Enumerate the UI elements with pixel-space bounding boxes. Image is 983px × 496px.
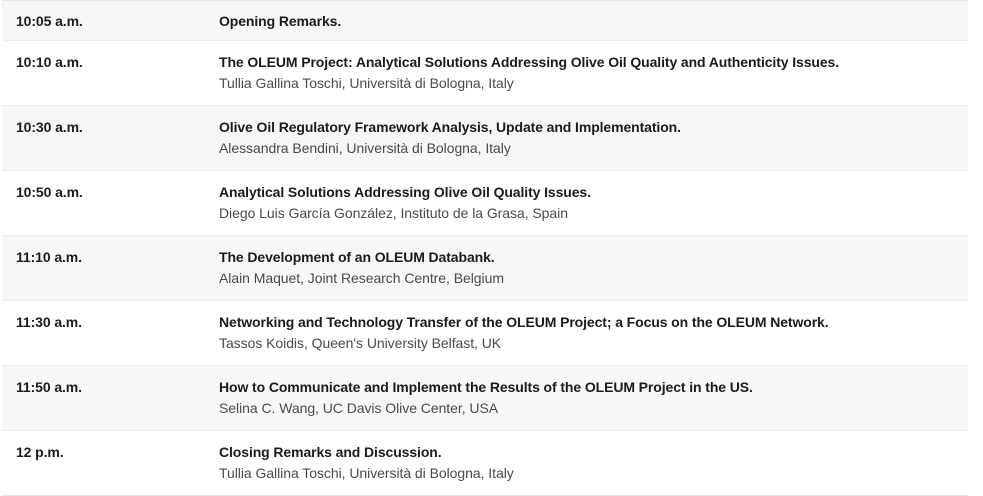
row-time: 10:05 a.m. [2,11,219,31]
schedule-table: 10:05 a.m. Opening Remarks. 10:10 a.m. T… [2,0,968,496]
row-title: Networking and Technology Transfer of th… [219,312,956,332]
row-session: The Development of an OLEUM Databank. Al… [219,247,968,289]
row-speaker: Tullia Gallina Toschi, Università di Bol… [219,463,956,484]
row-session: Closing Remarks and Discussion. Tullia G… [219,442,968,484]
row-speaker: Alessandra Bendini, Università di Bologn… [219,138,956,159]
table-row: 11:50 a.m. How to Communicate and Implem… [2,366,968,431]
row-title: Olive Oil Regulatory Framework Analysis,… [219,117,956,137]
row-time: 10:30 a.m. [2,117,219,137]
row-time: 12 p.m. [2,442,219,462]
row-speaker: Tassos Koidis, Queen's University Belfas… [219,333,956,354]
row-time: 11:30 a.m. [2,312,219,332]
row-title: The OLEUM Project: Analytical Solutions … [219,52,956,72]
row-time: 11:50 a.m. [2,377,219,397]
row-speaker: Alain Maquet, Joint Research Centre, Bel… [219,268,956,289]
row-time: 10:10 a.m. [2,52,219,72]
table-row: 10:05 a.m. Opening Remarks. [2,1,968,41]
row-title: Opening Remarks. [219,11,956,31]
row-session: Opening Remarks. [219,11,968,31]
table-row: 11:30 a.m. Networking and Technology Tra… [2,301,968,366]
table-row: 10:50 a.m. Analytical Solutions Addressi… [2,171,968,236]
table-row: 10:30 a.m. Olive Oil Regulatory Framewor… [2,106,968,171]
table-row: 10:10 a.m. The OLEUM Project: Analytical… [2,41,968,106]
row-speaker: Selina C. Wang, UC Davis Olive Center, U… [219,398,956,419]
row-time: 10:50 a.m. [2,182,219,202]
row-title: Analytical Solutions Addressing Olive Oi… [219,182,956,202]
row-title: Closing Remarks and Discussion. [219,442,956,462]
row-session: Olive Oil Regulatory Framework Analysis,… [219,117,968,159]
table-row: 11:10 a.m. The Development of an OLEUM D… [2,236,968,301]
row-session: The OLEUM Project: Analytical Solutions … [219,52,968,94]
row-speaker: Tullia Gallina Toschi, Università di Bol… [219,73,956,94]
table-row: 12 p.m. Closing Remarks and Discussion. … [2,431,968,495]
row-session: How to Communicate and Implement the Res… [219,377,968,419]
row-time: 11:10 a.m. [2,247,219,267]
row-speaker: Diego Luis García González, Instituto de… [219,203,956,224]
row-session: Analytical Solutions Addressing Olive Oi… [219,182,968,224]
row-title: The Development of an OLEUM Databank. [219,247,956,267]
row-session: Networking and Technology Transfer of th… [219,312,968,354]
row-title: How to Communicate and Implement the Res… [219,377,956,397]
